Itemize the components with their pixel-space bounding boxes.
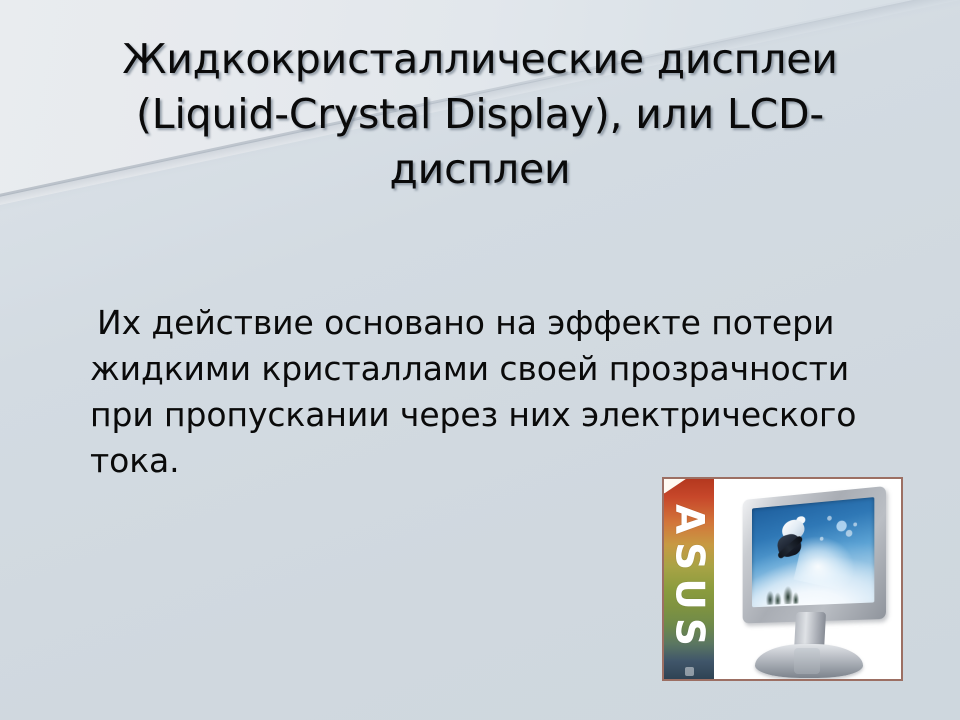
slide-body-text: Их действие основано на эффекте потери ж… [90, 300, 880, 484]
asus-badge-icon [685, 667, 694, 676]
snow-flake-icon [827, 515, 832, 520]
lcd-monitor [724, 486, 890, 676]
asus-slash-graphic [664, 479, 714, 493]
monitor-screen [752, 497, 874, 607]
asus-logo-strip: ASUS [664, 479, 714, 679]
slide-title: Жидкокристаллические дисплеи (Liquid-Cry… [52, 32, 908, 197]
picture-inner: ASUS [664, 479, 901, 679]
lcd-monitor-picture: ASUS [662, 477, 903, 681]
tree-line-graphic [759, 578, 824, 605]
presentation-slide: Жидкокристаллические дисплеи (Liquid-Cry… [0, 0, 960, 720]
monitor-bezel [743, 486, 886, 623]
snow-flake-icon [854, 523, 858, 527]
snowboarder-figure [775, 515, 818, 565]
asus-brand-text: ASUS [667, 504, 712, 654]
monitor-photo-area [714, 479, 901, 679]
monitor-stand-base-notch [794, 648, 820, 674]
